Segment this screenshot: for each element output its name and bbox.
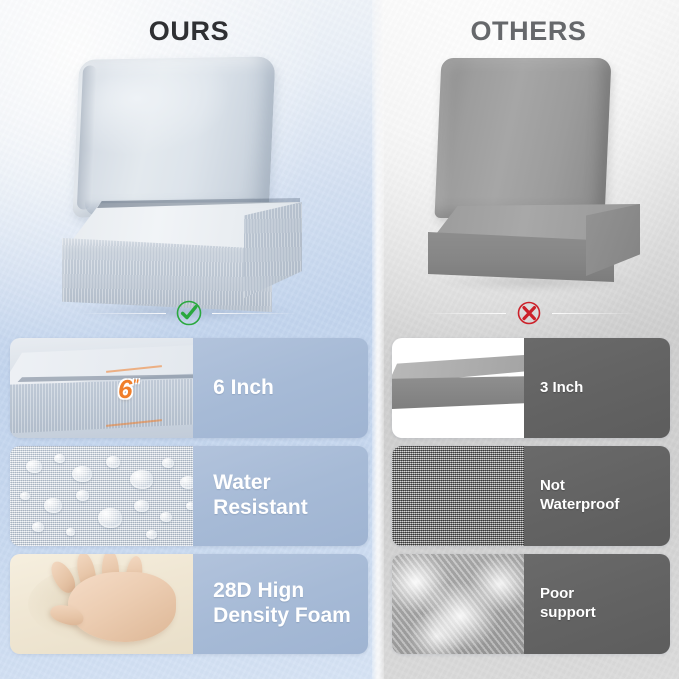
- feature-row: Poor support: [392, 554, 670, 654]
- ours-feature-list: 6" 6 Inch: [10, 338, 368, 662]
- ours-verdict: [0, 296, 378, 330]
- divider-rule-right: [212, 313, 298, 314]
- divider-rule-left: [80, 313, 166, 314]
- loose-fiberfill-photo: [392, 554, 524, 654]
- x-circle-icon: [514, 298, 544, 328]
- ours-title: OURS: [0, 16, 378, 47]
- water-beading-fabric-photo: [10, 446, 193, 546]
- feature-row: Water Resistant: [10, 446, 368, 546]
- feature-row: 6" 6 Inch: [10, 338, 368, 438]
- feature-row: 3 Inch: [392, 338, 670, 438]
- ours-back-pillow: [72, 56, 275, 217]
- others-back-pillow: [435, 58, 612, 218]
- others-hero-photo: [408, 52, 658, 302]
- feature-row: Not Waterproof: [392, 446, 670, 546]
- feature-row: 28D Hign Density Foam: [10, 554, 368, 654]
- others-feature-list: 3 Inch Not Waterproof Poor support: [392, 338, 670, 662]
- others-verdict: [378, 296, 679, 330]
- feature-label: Poor support: [524, 554, 670, 654]
- feature-label: Water Resistant: [193, 446, 368, 546]
- comparison-infographic: OURS OTHERS: [0, 0, 679, 679]
- feature-label: 3 Inch: [524, 338, 670, 438]
- thin-cushion-photo: [392, 338, 524, 438]
- feature-label: 6 Inch: [193, 338, 368, 438]
- column-divider: [372, 0, 384, 679]
- feature-label: 28D Hign Density Foam: [193, 554, 368, 654]
- cushion-thickness-photo: 6": [10, 338, 193, 438]
- others-title: OTHERS: [378, 16, 679, 47]
- check-circle-icon: [174, 298, 204, 328]
- ours-hero-photo: [46, 52, 336, 302]
- feature-label: Not Waterproof: [524, 446, 670, 546]
- dry-mesh-fabric-photo: [392, 446, 524, 546]
- ours-seat-side: [244, 202, 302, 298]
- divider-rule-left: [420, 313, 506, 314]
- hand-pressing-foam-photo: [10, 554, 193, 654]
- divider-rule-right: [552, 313, 638, 314]
- thickness-annotation: 6": [118, 374, 139, 405]
